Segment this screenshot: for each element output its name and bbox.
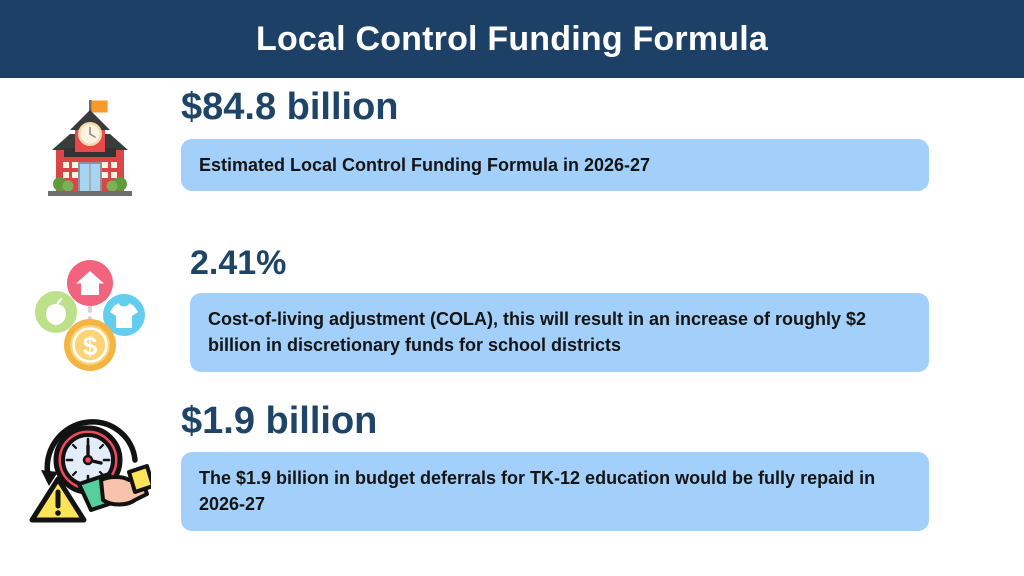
section-3-text: $1.9 billion The $1.9 billion in budget … (180, 402, 929, 531)
section-cola: $ 2.41% Cost-of-living adjustment (COLA)… (0, 246, 929, 374)
stat-value: $1.9 billion (181, 402, 929, 442)
header-band: Local Control Funding Formula (0, 0, 1024, 78)
stat-value: 2.41% (190, 246, 929, 282)
section-deferrals: $1.9 billion The $1.9 billion in budget … (0, 402, 929, 531)
section-1-text: $84.8 billion Estimated Local Control Fu… (180, 88, 929, 191)
svg-text:$: $ (83, 331, 98, 361)
section-2-text: 2.41% Cost-of-living adjustment (COLA), … (180, 246, 929, 372)
deferred-payment-clock-icon (0, 402, 180, 530)
cost-of-living-icon: $ (0, 246, 180, 374)
stat-description-callout: Estimated Local Control Funding Formula … (181, 139, 929, 191)
page-title: Local Control Funding Formula (256, 22, 768, 56)
stat-description-callout: The $1.9 billion in budget deferrals for… (181, 452, 929, 531)
section-lcff-total: $84.8 billion Estimated Local Control Fu… (0, 88, 929, 206)
school-building-icon (0, 88, 180, 206)
stat-description-callout: Cost-of-living adjustment (COLA), this w… (190, 293, 929, 372)
infographic-root: Local Control Funding Formula (0, 0, 1024, 576)
stat-value: $84.8 billion (181, 88, 929, 128)
